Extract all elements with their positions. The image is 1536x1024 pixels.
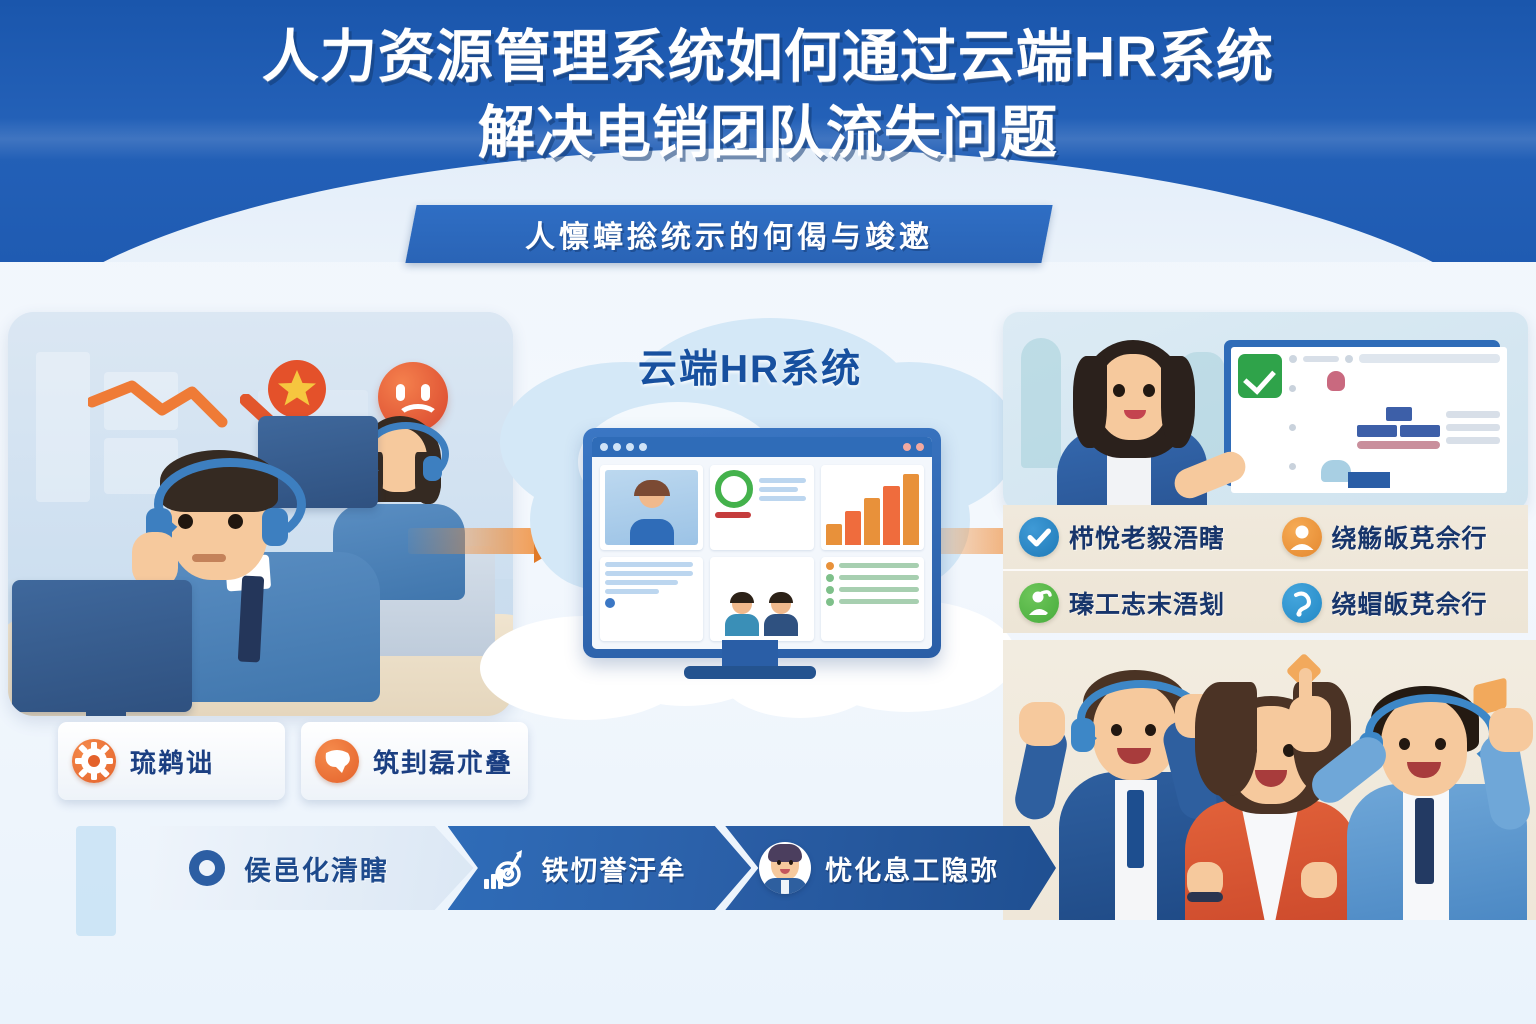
- pointing-hand: [1289, 696, 1331, 752]
- infographic-poster: 人力资源管理系统如何通过云端HR系统 解决电销团队流失问题 人懔蟑捴统示的何偈与…: [0, 0, 1536, 1024]
- monitor-stand: [722, 640, 778, 668]
- card-team-avatars[interactable]: [710, 557, 813, 642]
- review-monitor: [1224, 340, 1500, 486]
- card-progress-ring[interactable]: [710, 465, 813, 550]
- problem-scene-panel: [8, 312, 513, 716]
- process-step-label: 忧化息工隐弥: [825, 849, 999, 888]
- foreground-monitor: [12, 580, 192, 712]
- person-circle-icon: [1282, 517, 1322, 557]
- badge-label: 栉悅老毅浯瞎: [1069, 519, 1225, 555]
- monitor-base: [684, 666, 816, 679]
- chip-label: 琉鹈诎: [130, 743, 214, 780]
- raised-fist: [1019, 702, 1065, 746]
- badge-item[interactable]: 绕蝐皈莌佘行: [1266, 583, 1529, 623]
- gear-circle-icon: [72, 739, 116, 783]
- support-circle-icon: [1282, 583, 1322, 623]
- card-checklist[interactable]: [821, 557, 924, 642]
- mini-bar-chart: [826, 470, 919, 545]
- index-finger: [1299, 668, 1312, 706]
- raised-fist: [1489, 708, 1533, 752]
- title-line-2: 解决电销团队流失问题: [0, 98, 1536, 168]
- hr-avatar-icon: [759, 842, 811, 894]
- badge-item[interactable]: 瑧工志末浯刬: [1003, 583, 1266, 623]
- browser-toolbar: [592, 437, 932, 457]
- card-employee-photo[interactable]: [600, 465, 703, 550]
- subtitle-text: 人懔蟑捴统示的何偈与竣遬: [411, 205, 1047, 263]
- clenched-fist: [1301, 862, 1337, 898]
- hr-manager-figure: [1045, 332, 1215, 510]
- badge-item[interactable]: 栉悅老毅浯瞎: [1003, 517, 1266, 557]
- target-growth-icon: [482, 845, 528, 891]
- process-step-3[interactable]: 忧化息工隐弥: [725, 826, 1056, 910]
- process-step-1[interactable]: 侯邑化清瞎: [150, 826, 474, 910]
- hr-dashboard-monitor: [583, 428, 941, 658]
- chat-circle-icon: [315, 739, 359, 783]
- process-step-label: 铁忉誉汙牟: [542, 849, 687, 888]
- card-bar-chart[interactable]: [821, 465, 924, 550]
- review-monitor-stand: [1348, 472, 1390, 488]
- chip-label: 筑刲磊朮叠: [373, 743, 513, 780]
- window-dots-left: [600, 443, 647, 451]
- feature-chip[interactable]: 琉鹈诎: [58, 722, 285, 800]
- badge-label: 瑧工志末浯刬: [1069, 585, 1225, 621]
- badge-item[interactable]: 绕觞皈莌佘行: [1266, 517, 1529, 557]
- dashboard-grid: [592, 457, 932, 649]
- window-shape: [36, 352, 90, 502]
- badge-label: 绕蝐皈莌佘行: [1332, 585, 1488, 621]
- feature-chip[interactable]: 筑刲磊朮叠: [301, 722, 528, 800]
- check-circle-icon: [1019, 517, 1059, 557]
- title-line-1: 人力资源管理系统如何通过云端HR系统: [0, 24, 1536, 90]
- badge-row: 栉悅老毅浯瞎 绕觞皈莌佘行: [1003, 505, 1528, 569]
- badge-label: 绕觞皈莌佘行: [1332, 519, 1488, 555]
- process-step-label: 侯邑化清瞎: [244, 849, 389, 888]
- page-title: 人力资源管理系统如何通过云端HR系统 解决电销团队流失问题: [0, 24, 1536, 168]
- cloud-hr-system: 云端HR系统: [470, 300, 1030, 720]
- cloud-label: 云端HR系统: [470, 338, 1030, 394]
- celebrating-team-scene: [1003, 640, 1536, 920]
- process-step-2[interactable]: 铁忉誉汙牟: [448, 826, 752, 910]
- badge-row: 瑧工志末浯刬 绕蝐皈莌佘行: [1003, 569, 1528, 635]
- window-dots-right: [903, 443, 924, 451]
- card-text-list[interactable]: [600, 557, 703, 642]
- gear-icon: [184, 845, 230, 891]
- dashboard-screen: [592, 437, 932, 649]
- benefits-badge-list: 栉悅老毅浯瞎 绕觞皈莌佘行 瑧工志末浯刬 绕蝐皈莌佘行: [1003, 505, 1528, 633]
- subtitle-banner: 人懔蟑捴统示的何偈与竣遬: [405, 205, 1052, 263]
- feature-chip-group: 琉鹈诎 筑刲磊朮叠: [58, 722, 528, 800]
- growth-person-icon: [1019, 583, 1059, 623]
- process-flow-bar: 侯邑化清瞎 铁忉誉汙牟: [150, 826, 1056, 910]
- hr-manager-panel: [1003, 312, 1528, 510]
- green-check-icon: [1238, 354, 1282, 398]
- building-silhouette: [76, 826, 116, 936]
